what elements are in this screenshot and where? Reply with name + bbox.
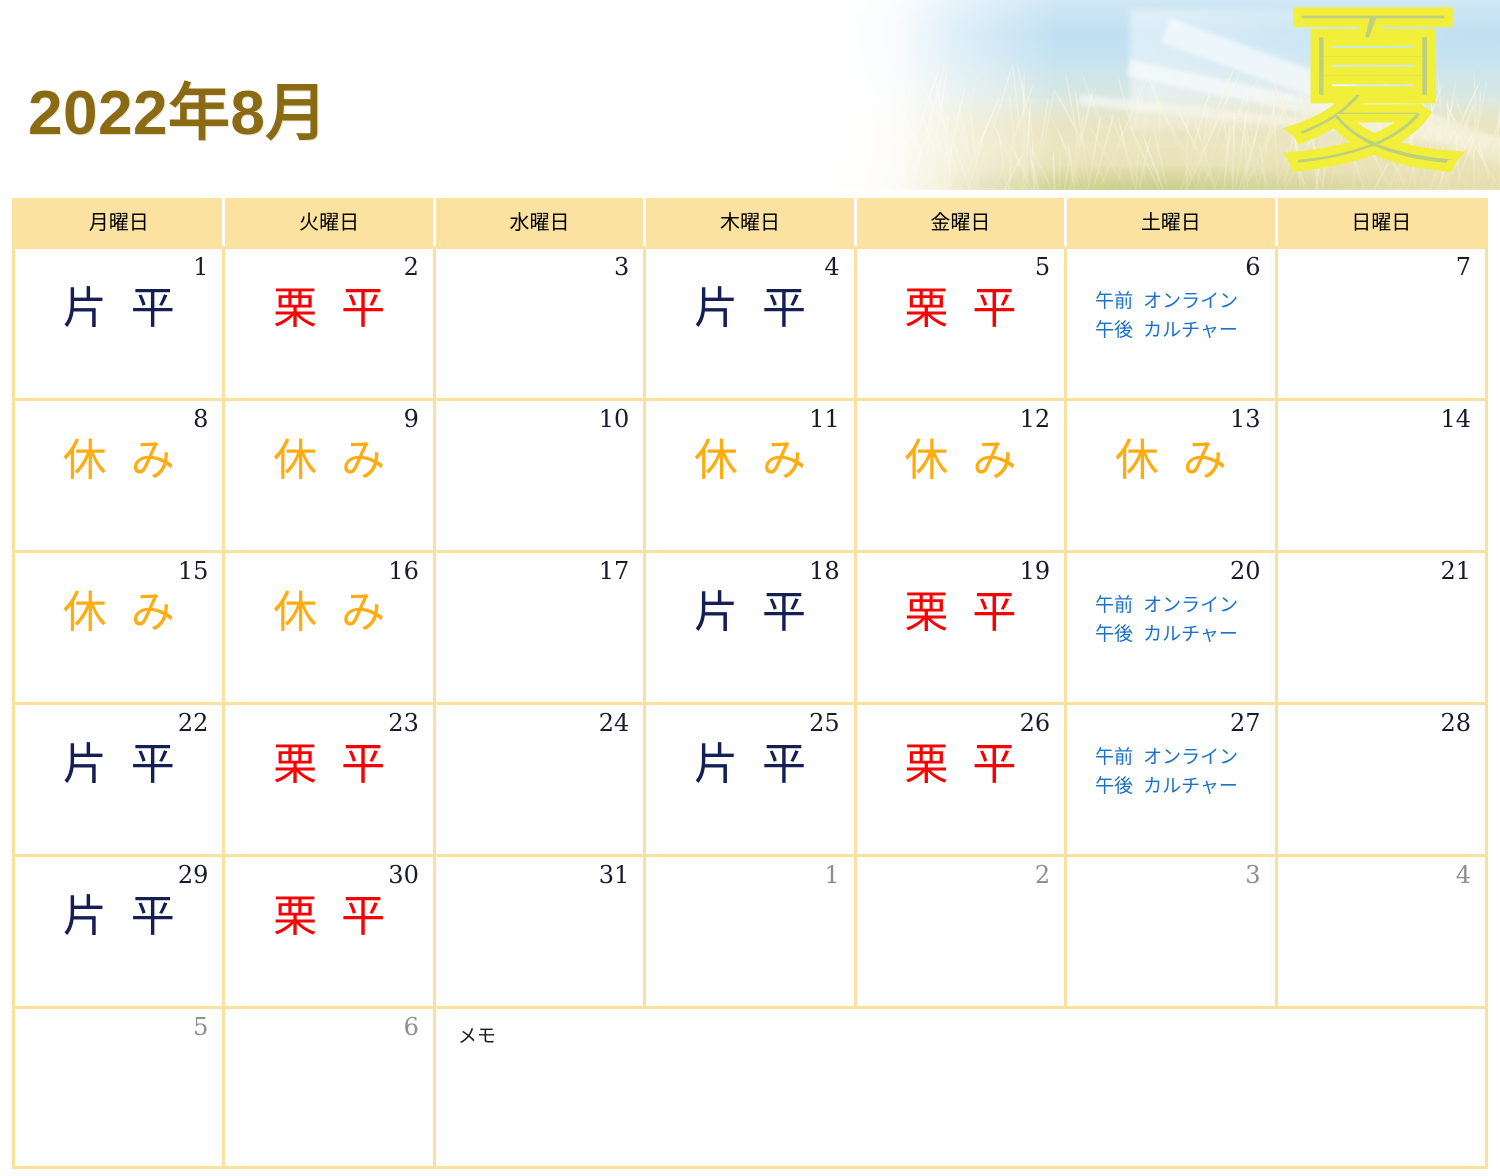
day-number: 13 [1230, 407, 1261, 431]
day-number: 28 [1440, 711, 1471, 735]
calendar-day-cell[interactable]: 3 [434, 248, 644, 400]
day-event-label: 休み [646, 439, 853, 483]
day-event-label: 栗平 [857, 287, 1064, 331]
day-number: 11 [809, 407, 840, 431]
schedule-time-label: 午前 [1095, 291, 1133, 312]
day-number: 29 [178, 863, 209, 887]
day-number: 2 [1035, 863, 1050, 887]
schedule-time-label: 午後 [1095, 320, 1133, 341]
calendar-day-cell[interactable]: 27午前オンライン午後カルチャー [1066, 704, 1276, 856]
day-event-label: 栗平 [857, 591, 1064, 635]
day-number: 26 [1020, 711, 1051, 735]
schedule-time-label: 午後 [1095, 776, 1133, 797]
calendar-day-cell[interactable]: 23栗平 [224, 704, 434, 856]
calendar-week-row: 8休み9休み1011休み12休み13休み14 [14, 400, 1487, 552]
day-number: 3 [1245, 863, 1260, 887]
calendar-day-cell[interactable]: 15休み [14, 552, 224, 704]
calendar-day-cell[interactable]: 17 [434, 552, 644, 704]
day-number: 21 [1440, 559, 1471, 583]
schedule-activity-label: カルチャー [1143, 320, 1238, 341]
season-kanji-summer: 夏 [1284, 2, 1462, 180]
day-schedule-list: 午前オンライン午後カルチャー [1095, 591, 1266, 650]
day-number: 6 [1245, 255, 1260, 279]
day-schedule-list: 午前オンライン午後カルチャー [1095, 743, 1266, 802]
weekday-header-4: 木曜日 [645, 200, 855, 248]
day-event-label: 栗平 [225, 743, 432, 787]
day-event-label: 片平 [15, 287, 222, 331]
schedule-activity-label: オンライン [1143, 595, 1238, 616]
day-event-label: 片平 [15, 743, 222, 787]
calendar-day-cell[interactable]: 5 [14, 1008, 224, 1168]
calendar-day-cell[interactable]: 19栗平 [855, 552, 1065, 704]
calendar-day-cell[interactable]: 26栗平 [855, 704, 1065, 856]
weekday-header-3: 水曜日 [434, 200, 644, 248]
day-number: 1 [824, 863, 839, 887]
weekday-header-5: 金曜日 [855, 200, 1065, 248]
day-event-label: 片平 [15, 895, 222, 939]
day-event-label: 栗平 [225, 287, 432, 331]
day-number: 1 [193, 255, 208, 279]
calendar-day-cell[interactable]: 6 [224, 1008, 434, 1168]
day-event-label: 休み [857, 439, 1064, 483]
day-event-label: 休み [15, 439, 222, 483]
schedule-time-label: 午前 [1095, 595, 1133, 616]
calendar-day-cell[interactable]: 8休み [14, 400, 224, 552]
calendar-day-cell[interactable]: 22片平 [14, 704, 224, 856]
calendar-day-cell[interactable]: 7 [1276, 248, 1486, 400]
calendar-day-cell[interactable]: 13休み [1066, 400, 1276, 552]
day-event-label: 片平 [646, 591, 853, 635]
calendar-week-row: 15休み16休み1718片平19栗平20午前オンライン午後カルチャー21 [14, 552, 1487, 704]
day-schedule-line: 午後カルチャー [1095, 772, 1266, 801]
calendar-grid-wrapper: 月曜日火曜日水曜日木曜日金曜日土曜日日曜日 1片平2栗平34片平5栗平6午前オン… [12, 198, 1488, 1169]
day-number: 4 [824, 255, 839, 279]
day-number: 6 [404, 1015, 419, 1039]
day-number: 3 [614, 255, 629, 279]
day-event-label: 休み [225, 439, 432, 483]
day-number: 17 [599, 559, 630, 583]
day-event-label: 休み [1067, 439, 1274, 483]
day-schedule-line: 午前オンライン [1095, 591, 1266, 620]
weekday-header-6: 土曜日 [1066, 200, 1276, 248]
weekday-header-row: 月曜日火曜日水曜日木曜日金曜日土曜日日曜日 [14, 200, 1487, 248]
calendar-day-cell[interactable]: 2 [855, 856, 1065, 1008]
day-schedule-line: 午後カルチャー [1095, 620, 1266, 649]
day-number: 16 [388, 559, 419, 583]
calendar-day-cell[interactable]: 10 [434, 400, 644, 552]
schedule-activity-label: オンライン [1143, 291, 1238, 312]
day-number: 27 [1230, 711, 1261, 735]
calendar-day-cell[interactable]: 11休み [645, 400, 855, 552]
calendar-week-row: 1片平2栗平34片平5栗平6午前オンライン午後カルチャー7 [14, 248, 1487, 400]
schedule-time-label: 午前 [1095, 747, 1133, 768]
day-number: 18 [809, 559, 840, 583]
schedule-activity-label: カルチャー [1143, 624, 1238, 645]
calendar-body: 1片平2栗平34片平5栗平6午前オンライン午後カルチャー78休み9休み1011休… [14, 248, 1487, 1168]
day-schedule-line: 午前オンライン [1095, 287, 1266, 316]
day-number: 23 [388, 711, 419, 735]
calendar-day-cell[interactable]: 4 [1276, 856, 1486, 1008]
calendar-memo-row: 56メモ [14, 1008, 1487, 1168]
calendar-day-cell[interactable]: 21 [1276, 552, 1486, 704]
calendar-day-cell[interactable]: 6午前オンライン午後カルチャー [1066, 248, 1276, 400]
schedule-activity-label: オンライン [1143, 747, 1238, 768]
day-number: 4 [1456, 863, 1471, 887]
day-number: 19 [1020, 559, 1051, 583]
day-number: 12 [1020, 407, 1051, 431]
weekday-header-7: 日曜日 [1276, 200, 1486, 248]
calendar-day-cell[interactable]: 3 [1066, 856, 1276, 1008]
calendar-week-row: 22片平23栗平2425片平26栗平27午前オンライン午後カルチャー28 [14, 704, 1487, 856]
calendar-day-cell[interactable]: 16休み [224, 552, 434, 704]
calendar-page: 夏 2022年8月 月曜日火曜日水曜日木曜日金曜日土曜日日曜日 1片平2栗平34… [0, 0, 1500, 1176]
calendar-title: 2022年8月 [28, 62, 328, 152]
day-number: 24 [599, 711, 630, 735]
day-event-label: 休み [225, 591, 432, 635]
day-number: 15 [178, 559, 209, 583]
calendar-day-cell[interactable]: 24 [434, 704, 644, 856]
day-number: 14 [1440, 407, 1471, 431]
day-schedule-line: 午後カルチャー [1095, 316, 1266, 345]
day-number: 2 [404, 255, 419, 279]
memo-cell[interactable]: メモ [434, 1008, 1486, 1168]
day-event-label: 片平 [646, 287, 853, 331]
day-event-label: 栗平 [225, 895, 432, 939]
schedule-time-label: 午後 [1095, 624, 1133, 645]
day-number: 8 [193, 407, 208, 431]
calendar-day-cell[interactable]: 18片平 [645, 552, 855, 704]
day-number: 31 [599, 863, 630, 887]
calendar-day-cell[interactable]: 31 [434, 856, 644, 1008]
day-schedule-line: 午前オンライン [1095, 743, 1266, 772]
calendar-week-row: 29片平30栗平311234 [14, 856, 1487, 1008]
calendar-table: 月曜日火曜日水曜日木曜日金曜日土曜日日曜日 1片平2栗平34片平5栗平6午前オン… [12, 198, 1488, 1169]
calendar-day-cell[interactable]: 12休み [855, 400, 1065, 552]
weekday-header-2: 火曜日 [224, 200, 434, 248]
day-number: 10 [599, 407, 630, 431]
day-number: 9 [404, 407, 419, 431]
calendar-day-cell[interactable]: 1 [645, 856, 855, 1008]
calendar-day-cell[interactable]: 29片平 [14, 856, 224, 1008]
calendar-day-cell[interactable]: 30栗平 [224, 856, 434, 1008]
calendar-day-cell[interactable]: 1片平 [14, 248, 224, 400]
calendar-day-cell[interactable]: 2栗平 [224, 248, 434, 400]
day-event-label: 栗平 [857, 743, 1064, 787]
calendar-day-cell[interactable]: 28 [1276, 704, 1486, 856]
calendar-day-cell[interactable]: 9休み [224, 400, 434, 552]
memo-label: メモ [458, 1021, 496, 1048]
day-number: 5 [193, 1015, 208, 1039]
day-number: 20 [1230, 559, 1261, 583]
calendar-day-cell[interactable]: 14 [1276, 400, 1486, 552]
calendar-day-cell[interactable]: 5栗平 [855, 248, 1065, 400]
day-number: 25 [809, 711, 840, 735]
calendar-day-cell[interactable]: 4片平 [645, 248, 855, 400]
day-schedule-list: 午前オンライン午後カルチャー [1095, 287, 1266, 346]
day-event-label: 片平 [646, 743, 853, 787]
schedule-activity-label: カルチャー [1143, 776, 1238, 797]
day-event-label: 休み [15, 591, 222, 635]
calendar-day-cell[interactable]: 25片平 [645, 704, 855, 856]
day-number: 30 [388, 863, 419, 887]
day-number: 5 [1035, 255, 1050, 279]
calendar-day-cell[interactable]: 20午前オンライン午後カルチャー [1066, 552, 1276, 704]
weekday-header-1: 月曜日 [14, 200, 224, 248]
day-number: 7 [1456, 255, 1471, 279]
day-number: 22 [178, 711, 209, 735]
